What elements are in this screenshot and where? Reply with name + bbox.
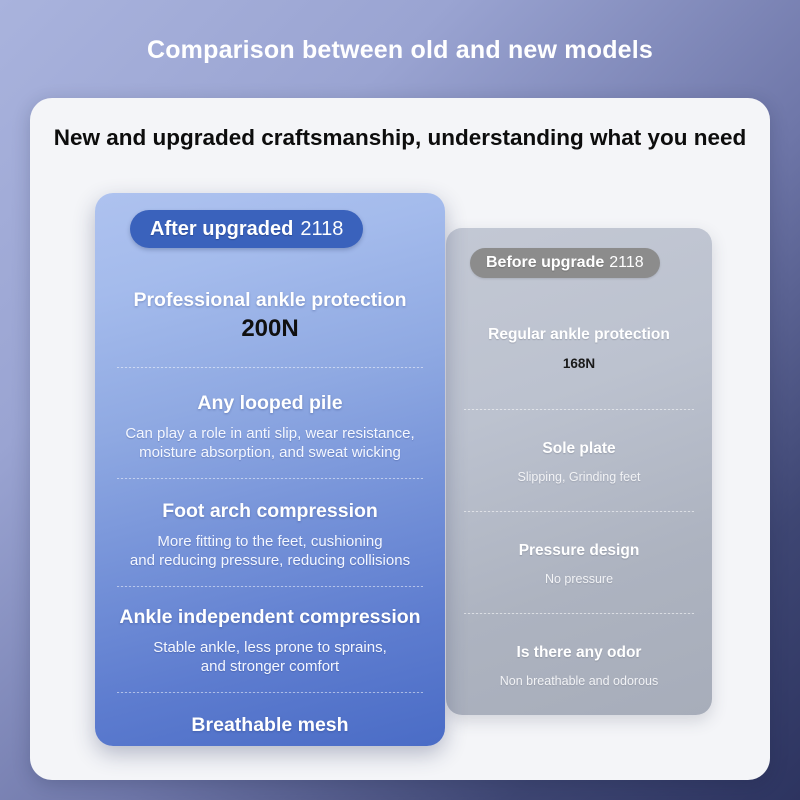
after-feature-row: Professional ankle protection 200N bbox=[95, 265, 445, 338]
before-feature-list: Regular ankle protection 168N Sole plate… bbox=[446, 290, 712, 688]
feature-title: Any looped pile bbox=[100, 392, 440, 415]
feature-title: Breathable mesh bbox=[100, 714, 440, 737]
feature-value: No pressure bbox=[460, 572, 698, 586]
after-upgraded-card: After upgraded 2118 Professional ankle p… bbox=[95, 193, 445, 746]
feature-title: Professional ankle protection bbox=[100, 289, 440, 312]
feature-value: More fitting to the feet, cushioning and… bbox=[100, 532, 440, 570]
feature-title: Foot arch compression bbox=[100, 500, 440, 523]
feature-title: Is there any odor bbox=[460, 644, 698, 662]
before-feature-row: Sole plate Slipping, Grinding feet bbox=[446, 410, 712, 484]
after-badge-model: 2118 bbox=[300, 218, 343, 241]
after-badge-label: After upgraded bbox=[150, 218, 293, 241]
feature-value: Stable ankle, less prone to sprains, and… bbox=[100, 638, 440, 676]
feature-title: Pressure design bbox=[460, 542, 698, 560]
feature-title: Regular ankle protection bbox=[460, 326, 698, 344]
feature-title: Sole plate bbox=[460, 440, 698, 458]
feature-value: Non breathable and odorous bbox=[460, 674, 698, 688]
comparison-infographic: Comparison between old and new models Ne… bbox=[0, 0, 800, 800]
before-badge-model: 2118 bbox=[609, 254, 643, 272]
feature-value: 200N bbox=[100, 319, 440, 338]
feature-value: 168N bbox=[460, 356, 698, 371]
after-feature-row: Foot arch compression More fitting to th… bbox=[95, 479, 445, 570]
after-feature-list: Professional ankle protection 200N Any l… bbox=[95, 265, 445, 746]
feature-title: Ankle independent compression bbox=[100, 606, 440, 629]
after-upgraded-badge: After upgraded 2118 bbox=[130, 210, 363, 248]
before-badge-label: Before upgrade bbox=[486, 254, 604, 272]
feature-value: Can play a role in anti slip, wear resis… bbox=[100, 424, 440, 462]
page-title: Comparison between old and new models bbox=[0, 36, 800, 65]
panel-heading: New and upgraded craftsmanship, understa… bbox=[30, 125, 770, 151]
after-feature-row: Any looped pile Can play a role in anti … bbox=[95, 368, 445, 462]
before-feature-row: Regular ankle protection 168N bbox=[446, 290, 712, 371]
after-feature-row: Breathable mesh Large area breathable me… bbox=[95, 693, 445, 746]
before-feature-row: Is there any odor Non breathable and odo… bbox=[446, 614, 712, 688]
before-feature-row: Pressure design No pressure bbox=[446, 512, 712, 586]
before-upgrade-card: Before upgrade 2118 Regular ankle protec… bbox=[446, 228, 712, 715]
before-upgrade-badge: Before upgrade 2118 bbox=[470, 248, 660, 278]
feature-value: Slipping, Grinding feet bbox=[460, 470, 698, 484]
after-feature-row: Ankle independent compression Stable ank… bbox=[95, 587, 445, 676]
